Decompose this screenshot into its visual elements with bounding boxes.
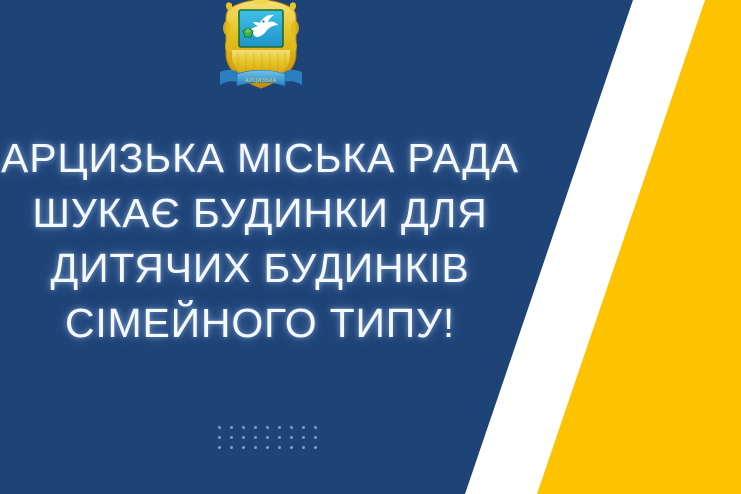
decorative-dot <box>218 436 221 439</box>
headline-text-block: АРЦИЗЬКА МІСЬКА РАДА ШУКАЄ БУДИНКИ ДЛЯ Д… <box>0 131 520 351</box>
decorative-dot <box>218 446 221 449</box>
decorative-dot <box>278 436 281 439</box>
decorative-dot <box>290 446 293 449</box>
decorative-dot <box>254 446 257 449</box>
decorative-dot <box>314 446 317 449</box>
decorative-dot <box>230 446 233 449</box>
emblem-ribbon-banner: АРЦИЗЬКА <box>220 70 302 86</box>
decorative-dot <box>218 426 221 429</box>
announcement-banner: АРЦИЗЬКА АРЦИЗЬКА МІСЬКА РАДА ШУКАЄ БУДИ… <box>0 0 741 494</box>
decorative-dot <box>254 426 257 429</box>
decorative-dot <box>230 426 233 429</box>
decorative-dot <box>266 436 269 439</box>
emblem-ribbon-text: АРЦИЗЬКА <box>245 78 277 84</box>
decorative-dot <box>278 446 281 449</box>
decorative-dot <box>314 436 317 439</box>
decorative-dot <box>266 426 269 429</box>
decorative-dot <box>302 436 305 439</box>
decorative-dot <box>242 426 245 429</box>
decorative-dot <box>290 436 293 439</box>
decorative-dot <box>314 426 317 429</box>
decorative-dot <box>242 446 245 449</box>
decorative-dot <box>278 426 281 429</box>
headline-line-3: ДИТЯЧИХ БУДИНКІВ <box>0 241 520 296</box>
decorative-dot <box>302 446 305 449</box>
decorative-dot <box>302 426 305 429</box>
decorative-dot-grid <box>213 422 321 452</box>
decorative-dot <box>230 436 233 439</box>
decorative-dot <box>242 436 245 439</box>
headline-line-1: АРЦИЗЬКА МІСЬКА РАДА <box>0 131 520 186</box>
headline-line-2: ШУКАЄ БУДИНКИ ДЛЯ <box>0 186 520 241</box>
decorative-dot <box>266 446 269 449</box>
headline-line-4: СІМЕЙНОГО ТИПУ! <box>0 296 520 351</box>
coat-of-arms-emblem: АРЦИЗЬКА <box>218 0 304 95</box>
decorative-dot <box>254 436 257 439</box>
decorative-dot <box>290 426 293 429</box>
